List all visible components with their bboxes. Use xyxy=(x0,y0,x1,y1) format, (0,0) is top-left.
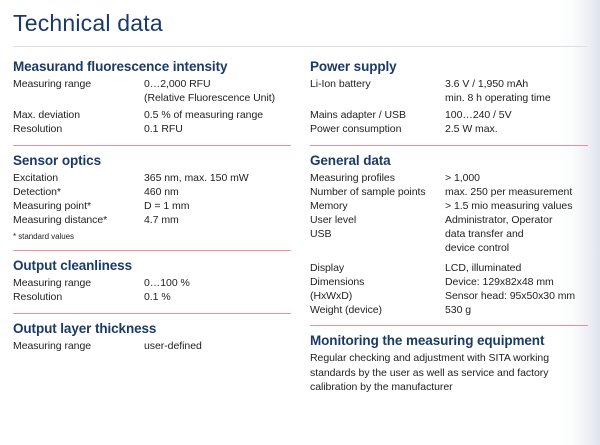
spec-label: Number of sample points xyxy=(310,185,445,199)
spec-row: Measuring range 0…100 % xyxy=(13,276,291,290)
spec-row: Resolution 0.1 RFU xyxy=(13,122,291,136)
section-title: Monitoring the measuring equipment xyxy=(310,332,588,349)
spec-row: Display LCD, illuminated xyxy=(310,261,588,275)
page-header: Technical data xyxy=(0,0,600,52)
spec-row: Measuring range 0…2,000 RFU xyxy=(13,77,291,91)
spec-label: Resolution xyxy=(13,290,144,304)
section-monitoring-measuring-equipment: Monitoring the measuring equipment Regul… xyxy=(310,332,588,395)
left-column: Measurand fluorescence intensity Measuri… xyxy=(13,58,291,353)
spec-row: USB data transfer and xyxy=(310,227,588,241)
spec-value: data transfer and xyxy=(445,227,588,241)
spec-value: 2.5 W max. xyxy=(445,122,588,136)
spec-label: Mains adapter / USB xyxy=(310,108,445,122)
spec-row: Measuring profiles > 1,000 xyxy=(310,171,588,185)
spec-row: Measuring distance* 4.7 mm xyxy=(13,213,291,227)
spec-label: Measuring range xyxy=(13,339,144,353)
spec-value: min. 8 h operating time xyxy=(445,91,588,105)
spec-label: Weight (device) xyxy=(310,303,445,317)
section-title: Power supply xyxy=(310,58,588,75)
spec-row: Power consumption 2.5 W max. xyxy=(310,122,588,136)
spec-value: 0.1 % xyxy=(144,290,291,304)
spec-row: Dimensions Device: 129x82x48 mm xyxy=(310,275,588,289)
spec-row: (Relative Fluorescence Unit) xyxy=(13,91,291,105)
spec-label: USB xyxy=(310,227,445,241)
spec-row: User level Administrator, Operator xyxy=(310,213,588,227)
spec-label: User level xyxy=(310,213,445,227)
spec-row: (HxWxD) Sensor head: 95x50x30 mm xyxy=(310,289,588,303)
spec-label: Measuring point* xyxy=(13,199,144,213)
spec-row: device control xyxy=(310,241,588,255)
header-divider xyxy=(13,46,587,47)
spec-label: Resolution xyxy=(13,122,144,136)
monitoring-paragraph-line: calibration by the manufacturer xyxy=(310,380,588,395)
spec-label: Display xyxy=(310,261,445,275)
spec-value: D = 1 mm xyxy=(144,199,291,213)
spec-label: Power consumption xyxy=(310,122,445,136)
spec-row: Memory > 1.5 mio measuring values xyxy=(310,199,588,213)
spec-row: min. 8 h operating time xyxy=(310,91,588,105)
technical-data-sheet: Technical data Measurand fluorescence in… xyxy=(0,0,600,445)
right-column: Power supply Li-Ion battery 3.6 V / 1,95… xyxy=(310,58,588,395)
spec-label: Measuring range xyxy=(13,276,144,290)
spec-value: 3.6 V / 1,950 mAh xyxy=(445,77,588,91)
spec-value: device control xyxy=(445,241,588,255)
spec-value: 100…240 / 5V xyxy=(445,108,588,122)
spec-label: Measuring distance* xyxy=(13,213,144,227)
standard-values-footnote: * standard values xyxy=(13,231,291,243)
section-title: Sensor optics xyxy=(13,152,291,169)
section-measurand-fluorescence-intensity: Measurand fluorescence intensity Measuri… xyxy=(13,58,291,136)
spec-value: 460 nm xyxy=(144,185,291,199)
spec-row: Measuring range user-defined xyxy=(13,339,291,353)
section-sensor-optics: Sensor optics Excitation 365 nm, max. 15… xyxy=(13,152,291,243)
section-output-layer-thickness: Output layer thickness Measuring range u… xyxy=(13,320,291,353)
section-general-data: General data Measuring profiles > 1,000 … xyxy=(310,152,588,317)
section-title: Output cleanliness xyxy=(13,257,291,274)
spec-row: Number of sample points max. 250 per mea… xyxy=(310,185,588,199)
spec-row: Resolution 0.1 % xyxy=(13,290,291,304)
spec-label: Dimensions xyxy=(310,275,445,289)
spec-row: Mains adapter / USB 100…240 / 5V xyxy=(310,108,588,122)
spec-value: 4.7 mm xyxy=(144,213,291,227)
section-title: Measurand fluorescence intensity xyxy=(13,58,291,75)
spec-value: 0.5 % of measuring range xyxy=(144,108,291,122)
section-title: General data xyxy=(310,152,588,169)
section-power-supply: Power supply Li-Ion battery 3.6 V / 1,95… xyxy=(310,58,588,136)
spec-value: 0.1 RFU xyxy=(144,122,291,136)
monitoring-paragraph-line: Regular checking and adjustment with SIT… xyxy=(310,351,588,366)
spec-row: Excitation 365 nm, max. 150 mW xyxy=(13,171,291,185)
spec-label: Excitation xyxy=(13,171,144,185)
monitoring-paragraph-line: standards by the user as well as service… xyxy=(310,366,588,381)
spec-value: 530 g xyxy=(445,303,588,317)
spec-value: > 1,000 xyxy=(445,171,588,185)
spec-value: LCD, illuminated xyxy=(445,261,588,275)
spec-value: 365 nm, max. 150 mW xyxy=(144,171,291,185)
spec-value: Administrator, Operator xyxy=(445,213,588,227)
spec-value: user-defined xyxy=(144,339,291,353)
spec-row: Li-Ion battery 3.6 V / 1,950 mAh xyxy=(310,77,588,91)
spec-value: 0…2,000 RFU xyxy=(144,77,291,91)
spec-row: Weight (device) 530 g xyxy=(310,303,588,317)
spec-value: Device: 129x82x48 mm xyxy=(445,275,588,289)
spec-label: (HxWxD) xyxy=(310,289,445,303)
spec-label: Measuring profiles xyxy=(310,171,445,185)
spec-value: 0…100 % xyxy=(144,276,291,290)
spec-label: Max. deviation xyxy=(13,108,144,122)
section-title: Output layer thickness xyxy=(13,320,291,337)
spec-row: Measuring point* D = 1 mm xyxy=(13,199,291,213)
spec-row: Max. deviation 0.5 % of measuring range xyxy=(13,108,291,122)
spec-label: Measuring range xyxy=(13,77,144,91)
spec-value: Sensor head: 95x50x30 mm xyxy=(445,289,588,303)
spec-value: > 1.5 mio measuring values xyxy=(445,199,588,213)
spec-row: Detection* 460 nm xyxy=(13,185,291,199)
page-title: Technical data xyxy=(13,9,163,37)
section-output-cleanliness: Output cleanliness Measuring range 0…100… xyxy=(13,257,291,304)
spec-value: (Relative Fluorescence Unit) xyxy=(144,91,291,105)
spec-label: Detection* xyxy=(13,185,144,199)
spec-label: Memory xyxy=(310,199,445,213)
spec-label: Li-Ion battery xyxy=(310,77,445,91)
spec-value: max. 250 per measurement xyxy=(445,185,588,199)
